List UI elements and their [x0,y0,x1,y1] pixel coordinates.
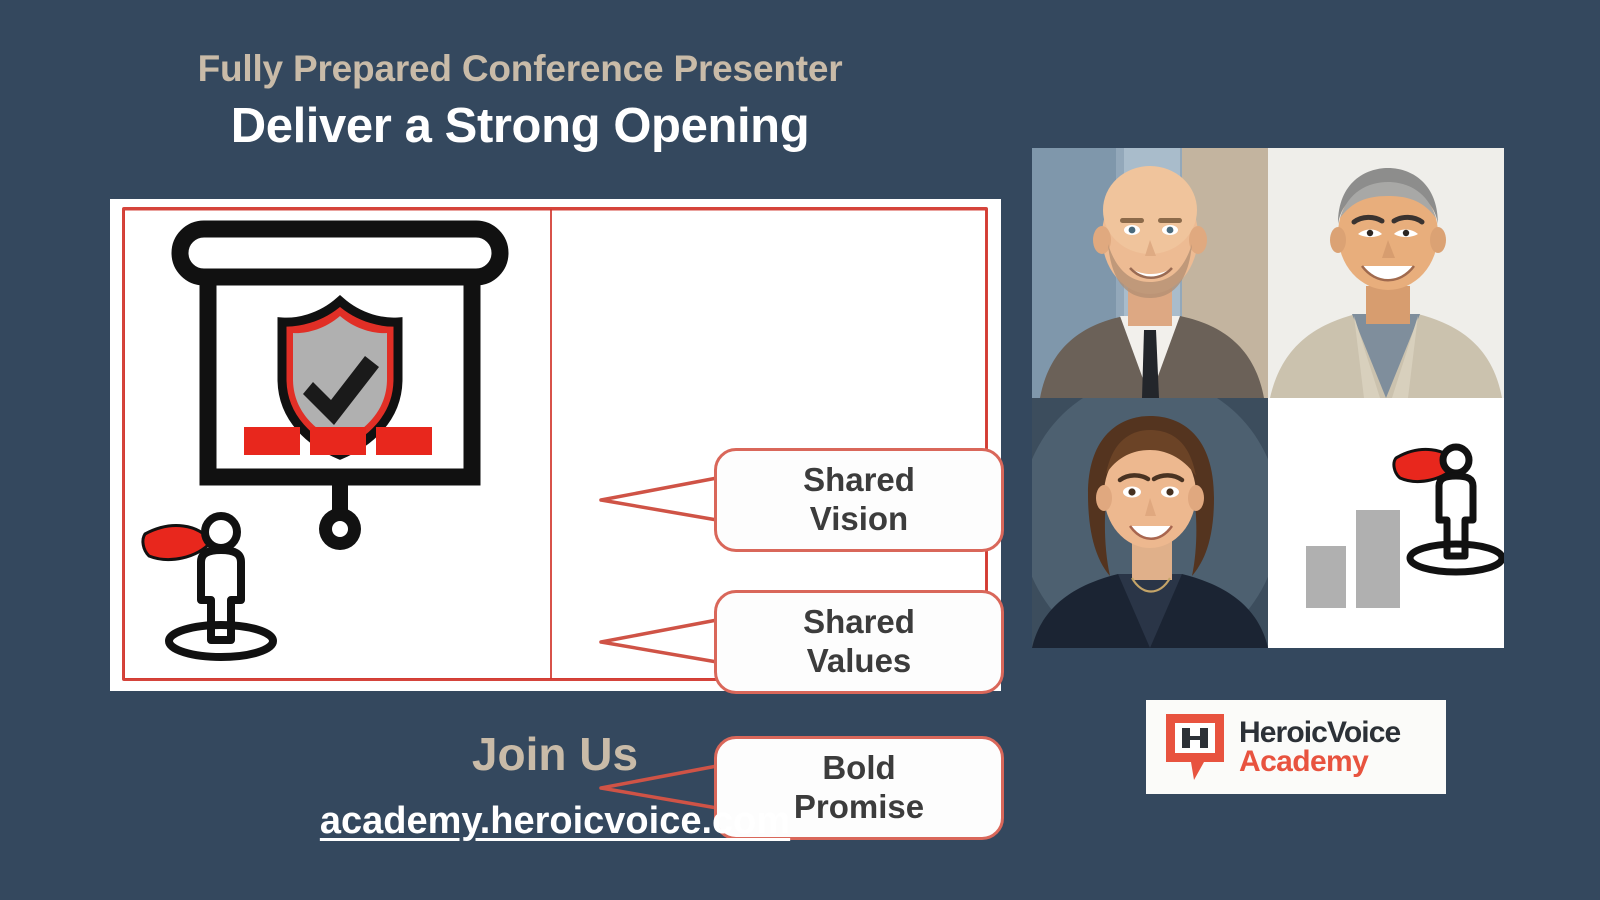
page-title: Deliver a Strong Opening [0,98,1040,154]
logo-line-2: Academy [1239,747,1400,776]
callout-line-1: Shared [803,461,915,500]
join-us-label: Join Us [0,727,1110,781]
kicker-text: Fully Prepared Conference Presenter [0,48,1040,90]
callout-line-2: Vision [810,500,908,539]
callout-line-1: Shared [803,603,915,642]
panel-divider-line [550,209,552,679]
callout-connector-1 [599,474,719,526]
callout-line-2: Values [807,642,912,681]
growth-icon-cell [1268,398,1504,648]
callout-connector-2 [599,616,719,668]
callout-shared-vision[interactable]: Shared Vision [714,448,1004,552]
slide-canvas: Fully Prepared Conference Presenter Deli… [0,0,1600,900]
callout-shared-values[interactable]: Shared Values [714,590,1004,694]
heroicvoice-academy-logo[interactable]: HeroicVoice Academy [1146,700,1446,794]
screen-bars-icon [244,427,432,455]
headshot-photo-2 [1268,148,1504,398]
website-url-link[interactable]: academy.heroicvoice.com [0,800,1110,843]
speaker-person-icon [135,504,305,664]
diagram-panel: Shared Vision Shared Values Bold Promise [110,199,1001,691]
headshot-photo-1 [1032,148,1268,398]
presenter-photo-grid [1032,148,1504,648]
logo-line-1: HeroicVoice [1239,718,1400,747]
headshot-photo-3 [1032,398,1268,648]
speech-bubble-h-icon [1164,712,1226,782]
